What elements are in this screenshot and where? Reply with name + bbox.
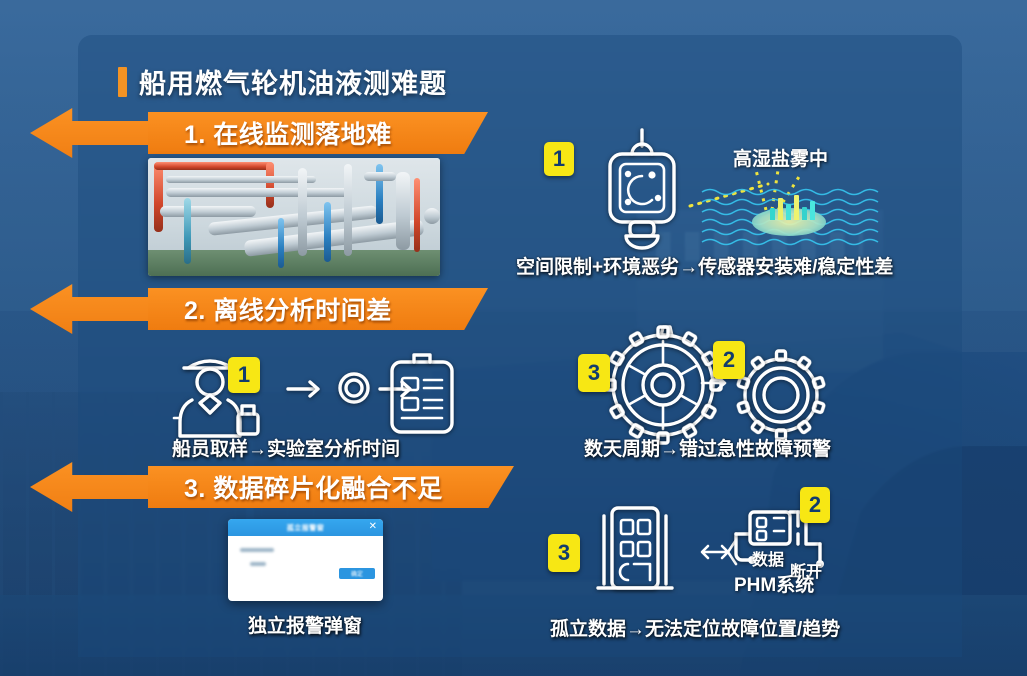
dialog-text-line <box>240 548 274 552</box>
dialog-title: 孤立报警窗 <box>287 523 325 533</box>
title-text: 船用燃气轮机油液测难题 <box>139 62 447 101</box>
infographic-canvas: 船用燃气轮机油液测难题 1. 在线监测落地难 1 <box>0 0 1027 676</box>
photo-valve <box>424 208 440 224</box>
section-2-heading: 2. 离线分析时间差 <box>148 291 392 327</box>
flow-arrow-icon <box>286 378 330 400</box>
phm-system-label: PHM系统 <box>734 570 814 597</box>
photo-pipe <box>166 176 316 183</box>
lab-report-icon <box>386 352 458 436</box>
photo-pipe <box>324 202 331 262</box>
photo-pipe <box>266 162 274 208</box>
photo-pipe <box>154 162 163 232</box>
photo-pipe <box>160 206 256 217</box>
photo-pipe <box>298 168 307 256</box>
data-server-icon <box>590 502 680 598</box>
dialog-body: 确定 <box>228 536 383 584</box>
photo-pipe <box>396 172 410 250</box>
section-3-heading: 3. 数据碎片化融合不足 <box>148 469 443 505</box>
sample-node-icon <box>326 362 382 414</box>
photo-pipe <box>154 162 274 170</box>
section-2-right-caption: 数天周期→错过急性故障预警 <box>584 434 831 461</box>
photo-pipe <box>184 198 191 264</box>
dialog-caption: 独立报警弹窗 <box>248 611 362 638</box>
crew-sampling-icon <box>170 348 276 440</box>
badge-1-section1: 1 <box>544 142 574 176</box>
badge-2-section3: 2 <box>800 487 830 523</box>
photo-pipe <box>364 172 396 181</box>
engine-room-photo <box>148 158 440 276</box>
data-label: 数据 <box>752 546 784 570</box>
badge-1-section2: 1 <box>228 357 260 393</box>
close-icon[interactable]: ✕ <box>369 521 377 532</box>
alarm-popup-dialog[interactable]: 孤立报警窗 ✕ 确定 <box>228 519 383 601</box>
gear-small-icon <box>730 344 832 446</box>
photo-pipe <box>414 178 420 252</box>
section-1-bar: 1. 在线监测落地难 <box>148 112 488 154</box>
badge-2-section2: 2 <box>713 341 745 379</box>
section-3-caption: 孤立数据→无法定位故障位置/趋势 <box>550 614 840 641</box>
photo-floor <box>148 250 440 276</box>
environment-label: 高湿盐雾中 <box>733 144 828 171</box>
section-2-bar: 2. 离线分析时间差 <box>148 288 488 330</box>
dialog-confirm-label: 确定 <box>351 569 363 578</box>
photo-pipe <box>344 164 352 256</box>
dialog-confirm-button[interactable]: 确定 <box>339 568 375 579</box>
title-accent-bar <box>118 67 127 97</box>
badge-3-section3: 3 <box>548 534 580 572</box>
page-title: 船用燃气轮机油液测难题 <box>118 62 447 101</box>
signal-bars-icon <box>770 194 815 220</box>
sea-waves-icon <box>700 182 896 254</box>
section-1-caption: 空间限制+环境恶劣→传感器安装难/稳定性差 <box>516 252 893 279</box>
sensor-icon <box>592 130 692 260</box>
section-2-left-caption: 船员取样→实验室分析时间 <box>172 434 400 461</box>
dialog-text-line <box>250 562 266 566</box>
photo-pipe <box>166 188 352 197</box>
badge-3-section2: 3 <box>578 354 610 392</box>
section-1-heading: 1. 在线监测落地难 <box>148 115 392 151</box>
dialog-titlebar: 孤立报警窗 ✕ <box>228 519 383 536</box>
photo-pipe <box>278 218 284 268</box>
section-3-bar: 3. 数据碎片化融合不足 <box>148 466 514 508</box>
